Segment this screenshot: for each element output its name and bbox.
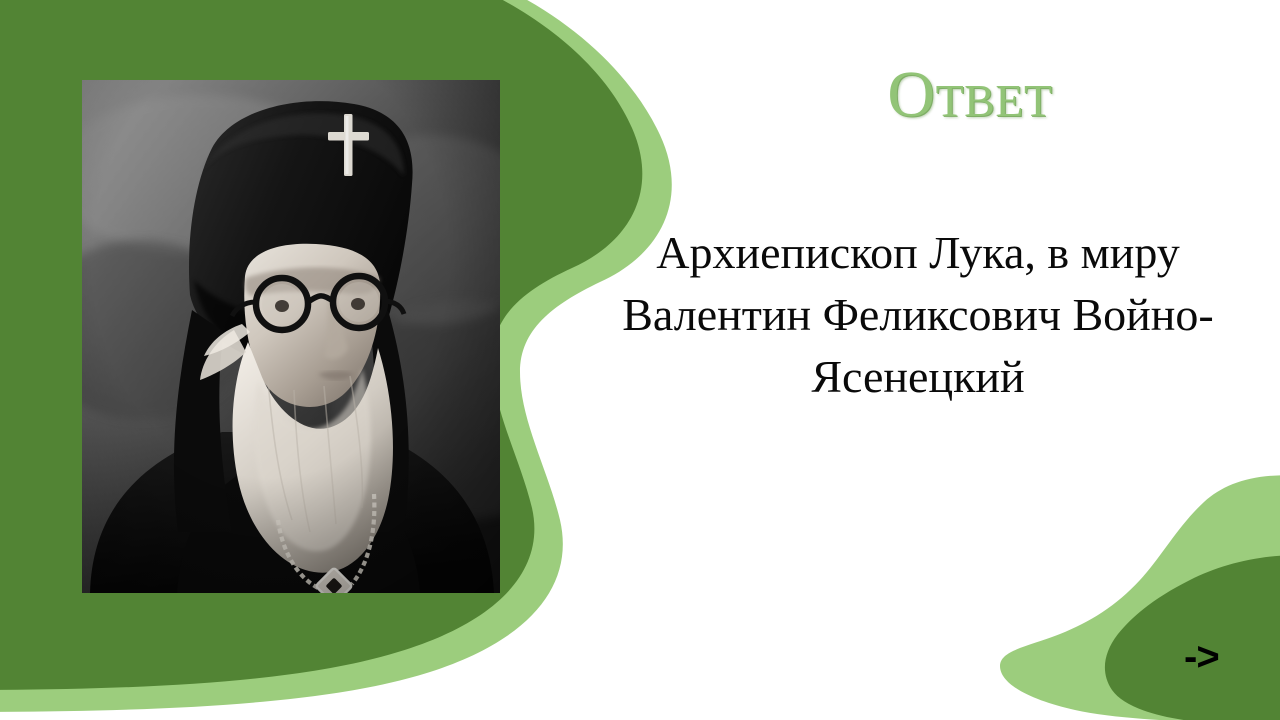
- portrait-photo: [82, 80, 500, 593]
- answer-text: Архиепископ Лука, в миру Валентин Феликс…: [608, 222, 1228, 408]
- slide-canvas: Ответ Архиепископ Лука, в миру Валентин …: [0, 0, 1280, 720]
- corner-blob-light-shape: [1000, 475, 1280, 720]
- next-slide-arrow[interactable]: ->: [1184, 637, 1219, 677]
- page-title: Ответ: [700, 62, 1240, 128]
